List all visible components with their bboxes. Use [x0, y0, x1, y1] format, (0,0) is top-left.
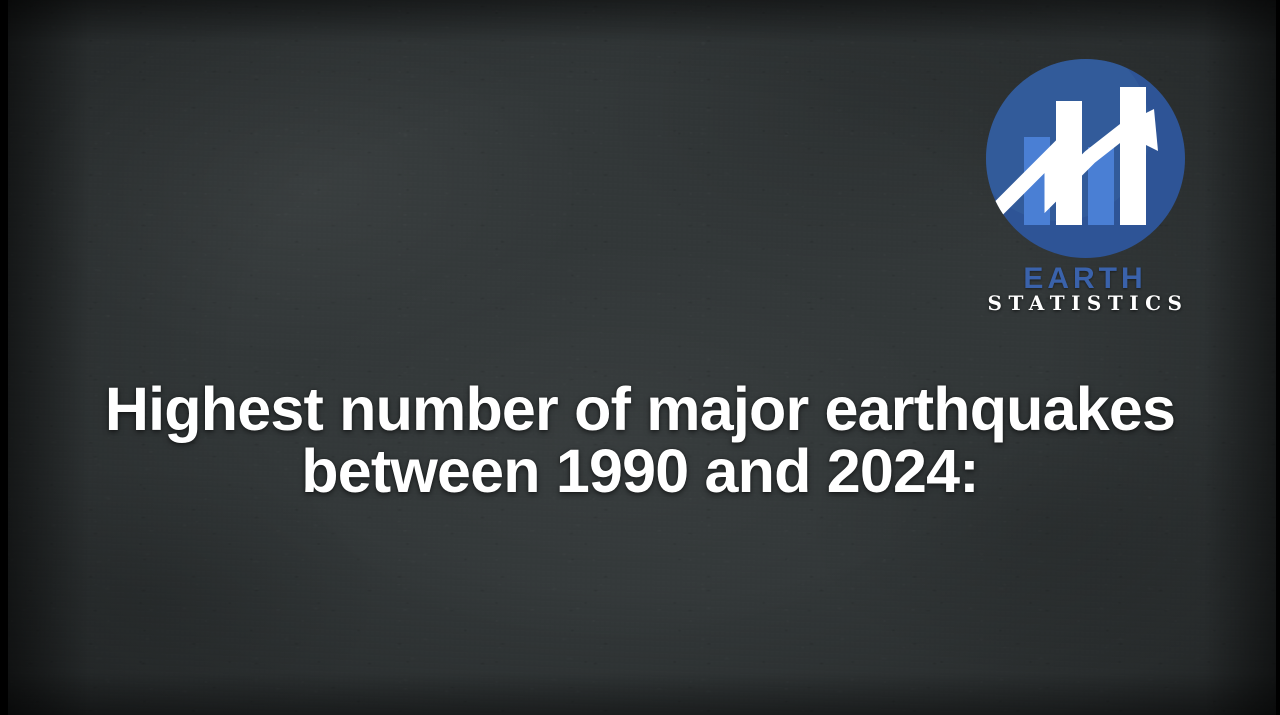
earth-statistics-logo: EARTH STATISTICS: [975, 52, 1195, 332]
title-line-2: between 1990 and 2024:: [20, 440, 1260, 502]
logo-chart-icon: [986, 59, 1185, 258]
video-frame: EARTH STATISTICS Highest number of major…: [0, 0, 1280, 715]
logo-wordmark-statistics: STATISTICS: [975, 292, 1195, 314]
logo-wordmark-earth: EARTH: [975, 264, 1195, 294]
logo-wordmark: EARTH STATISTICS: [975, 264, 1195, 314]
letterbox-bar-right: [1276, 0, 1280, 715]
logo-bar-4: [1120, 87, 1146, 225]
letterbox-bar-left: [0, 0, 8, 715]
title-block: Highest number of major earthquakes betw…: [0, 378, 1280, 502]
logo-chart-svg: [986, 59, 1185, 258]
title-line-1: Highest number of major earthquakes: [20, 378, 1260, 440]
